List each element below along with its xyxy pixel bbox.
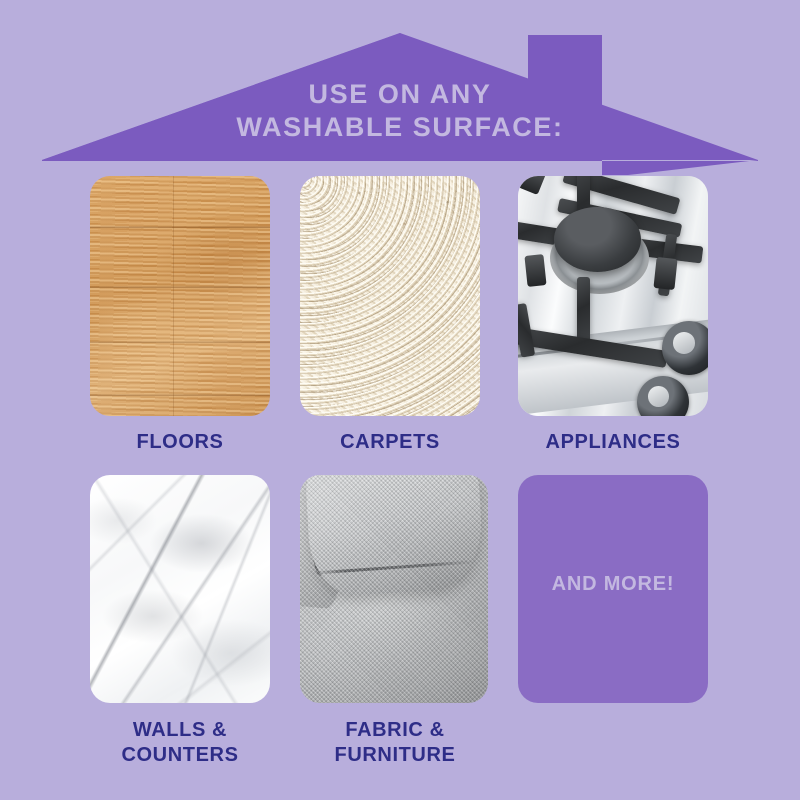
tile-and-more[interactable]: AND MORE! xyxy=(518,475,708,703)
stove-grate-arm xyxy=(577,277,590,344)
house-banner: USE ON ANY WASHABLE SURFACE: xyxy=(0,0,800,175)
stove-grate-foot xyxy=(653,257,677,290)
page-title: USE ON ANY WASHABLE SURFACE: xyxy=(0,78,800,144)
tile-floors-image[interactable] xyxy=(90,176,270,416)
tile-walls-counters-image[interactable] xyxy=(90,475,270,703)
stove-burner-cap xyxy=(554,207,641,272)
wood-floor-texture xyxy=(90,176,270,416)
carpet-texture xyxy=(300,176,480,416)
headline-line-2: WASHABLE SURFACE: xyxy=(0,111,800,144)
fabric-shading xyxy=(300,475,488,703)
caption-fabric-furniture: FABRIC & FURNITURE xyxy=(290,718,500,768)
knob-highlight xyxy=(673,332,695,354)
caption-floors: FLOORS xyxy=(90,430,270,455)
tile-carpets-image[interactable] xyxy=(300,176,480,416)
tile-appliances-image[interactable] xyxy=(518,176,708,416)
marble-texture xyxy=(90,475,270,703)
headline-line-1: USE ON ANY xyxy=(308,79,491,109)
stove-grate-foot xyxy=(524,254,546,287)
infographic-canvas: USE ON ANY WASHABLE SURFACE: FLOORS CARP… xyxy=(0,0,800,800)
caption-carpets: CARPETS xyxy=(300,430,480,455)
knob-highlight xyxy=(648,386,669,407)
and-more-label: AND MORE! xyxy=(518,573,708,596)
tile-fabric-furniture-image[interactable] xyxy=(300,475,488,703)
caption-walls-counters: WALLS & COUNTERS xyxy=(75,718,285,768)
caption-walls-line-1: WALLS & xyxy=(133,719,227,741)
caption-fabric-line-2: FURNITURE xyxy=(335,744,456,766)
caption-walls-line-2: COUNTERS xyxy=(121,744,238,766)
caption-fabric-line-1: FABRIC & xyxy=(345,719,444,741)
caption-appliances: APPLIANCES xyxy=(508,430,718,455)
